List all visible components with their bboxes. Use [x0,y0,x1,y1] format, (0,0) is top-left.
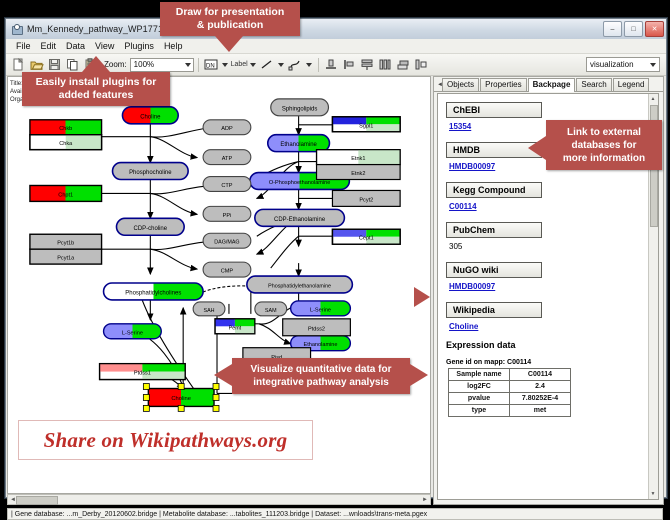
scroll-thumb[interactable] [16,496,58,505]
menu-edit[interactable]: Edit [36,40,62,53]
metabolite-node-choline-selected: Choline [143,384,219,412]
gene-node-sgpl1: Sgpl1 [332,117,400,132]
node-label: Pcyt1a [57,256,75,262]
distribute-horizontal-icon[interactable] [377,56,394,73]
datanode-dropdown-icon[interactable] [221,56,230,73]
minimize-button[interactable]: – [603,21,622,37]
save-icon[interactable] [46,56,63,73]
gene-node-chpt1: Chpt1 [30,185,102,201]
menu-view[interactable]: View [90,40,119,53]
kegg-compound-link[interactable]: C00114 [449,202,648,211]
callout-link: Link to external databases for more info… [546,120,662,170]
node-label: Phosphatidylethanolamine [268,283,331,289]
cell-value: 2.4 [510,381,571,393]
metabolite-node-phosphocholine: Phosphocholine [113,163,189,180]
table-row: pvalue 7.80252E-4 [449,393,571,405]
metabolite-node-l-serine-right: L-Serine [291,301,351,316]
gene-node-etnk2: Etnk2 [317,165,401,180]
canvas-hscrollbar[interactable]: ◄ ► [7,494,431,505]
align-left-icon[interactable] [341,56,358,73]
side-panel-tabs: ◄ Objects Properties Backpage Search Leg… [434,77,663,92]
metabolite-node-dag-mag: DAG/MAG [203,233,251,248]
menu-help[interactable]: Help [159,40,188,53]
pubchem-value: 305 [449,242,648,251]
node-label: ADP [221,126,233,132]
callout-visualize: Visualize quantitative data for integrat… [232,358,410,394]
table-row: type met [449,405,571,417]
metabolite-node-sah: SAH [193,302,225,316]
gene-node-pcyt1a: Pcyt1a [30,249,102,264]
menu-bar: File Edit Data View Plugins Help [6,39,666,54]
node-label: Pcyt1b [57,241,74,247]
node-label: Phosphocholine [129,170,172,176]
cell-key: type [449,405,510,417]
menu-file[interactable]: File [11,40,36,53]
callout-link-line3: more information [563,152,645,165]
label-tool-icon[interactable]: Label [231,56,248,73]
menu-plugins[interactable]: Plugins [119,40,159,53]
callout-link-line1: Link to external [567,126,641,139]
chevron-down-icon [650,63,656,67]
kegg-compound-header: Kegg Compound [446,182,542,198]
tab-legend[interactable]: Legend [613,78,650,91]
zoom-value: 100% [134,60,154,69]
node-label: SAM [265,308,277,314]
node-label: CDP-Ethanolamine [274,217,326,223]
open-folder-icon[interactable] [28,56,45,73]
cell-key: Sample name [449,369,510,381]
status-text: | Gene database: ...m_Derby_20120602.bri… [11,511,427,518]
tab-objects[interactable]: Objects [442,78,479,91]
line-dropdown-icon[interactable] [277,56,286,73]
cell-value: 7.80252E-4 [510,393,571,405]
nugo-wiki-link[interactable]: HMDB00097 [449,282,648,291]
table-row: log2FC 2.4 [449,381,571,393]
callout-plugins-line2: added features [59,89,134,102]
metabolite-node-atp: ATP [203,150,251,165]
node-label: Pemt [229,325,242,331]
gene-node-pcyt2: Pcyt2 [332,190,400,206]
expression-data-title: Expression data [446,340,648,350]
stack-icon[interactable] [395,56,412,73]
window-controls: – □ ✕ [603,21,664,37]
node-label: SAH [204,308,215,314]
node-label: Etnk1 [351,156,365,162]
label-dropdown-icon[interactable] [249,56,258,73]
visualization-combobox[interactable]: visualization [586,57,660,72]
node-label: Phosphatidylcholines [125,290,181,296]
shape-tool-icon[interactable] [287,56,304,73]
toolbar-separator [198,58,199,72]
node-label: DAG/MAG [214,240,239,246]
callout-visualize-arrow-right-icon [410,364,428,386]
toolbar-separator-2 [318,58,319,72]
callout-draw-line1: Draw for presentation [176,6,285,19]
node-label: Chka [59,141,73,147]
chevron-down-icon [185,63,191,67]
node-label: Ethanolamine [280,142,317,148]
callout-share: Share on Wikipathways.org [18,420,313,460]
cell-value: met [510,405,571,417]
gene-node-chka: Chka [30,135,102,150]
align-bottom-icon[interactable] [323,56,340,73]
scroll-up-icon[interactable]: ▲ [650,95,656,103]
metabolite-node-phosphatidylethanolamine: Phosphatidylethanolamine [247,276,352,293]
datanode-tool-icon[interactable]: DN [203,56,220,73]
wikipedia-link[interactable]: Choline [449,322,648,331]
node-label: L-Serine [310,307,331,313]
close-button[interactable]: ✕ [645,21,664,37]
callout-plugins-line1: Easily install plugins for [36,76,157,89]
metabolite-node-cdp-ethanolamine: CDP-Ethanolamine [255,209,345,226]
screenshot-root: Mm_Kennedy_pathway_WP1771_45176.gpml – □… [0,0,670,509]
callout-plugins-arrow-icon [82,56,110,72]
distribute-vertical-icon[interactable] [359,56,376,73]
node-label: CDP-choline [134,226,168,232]
node-label: Chkb [59,126,72,132]
node-label: CTP [221,183,232,189]
callout-visualize-arrow-left-icon [214,364,232,386]
metabolite-node-sphingolipids: Sphingolipids [271,99,329,116]
menu-data[interactable]: Data [61,40,90,53]
shape-dropdown-icon[interactable] [305,56,314,73]
new-file-icon[interactable] [10,56,27,73]
status-bar: | Gene database: ...m_Derby_20120602.bri… [7,508,663,520]
callout-link-arrow-icon [528,136,546,160]
table-row: Sample name C00114 [449,369,571,381]
visualization-value: visualization [590,60,634,69]
metabolite-node-cmp: CMP [203,262,251,277]
callout-draw-line2: & publication [197,19,264,32]
node-label: L-Serine [122,330,143,336]
node-label: Ptdss2 [308,326,325,332]
nugo-wiki-header: NuGO wiki [446,262,542,278]
label-tool-text: Label [231,61,248,68]
node-label: Ptdss1 [134,371,151,377]
line-tool-icon[interactable] [259,56,276,73]
node-label: Sgpl1 [359,123,373,129]
gene-node-ptdss2: Ptdss2 [283,319,351,336]
node-label: Choline [140,114,161,120]
callout-share-text: Share on Wikipathways.org [44,428,288,453]
node-label: O-Phosphoethanolamine [269,180,331,186]
wikipedia-header: Wikipedia [446,302,542,318]
metabolite-node-ctp: CTP [203,177,251,192]
node-label: CMP [221,269,234,275]
pubchem-header: PubChem [446,222,542,238]
callout-link-line2: databases for [571,139,636,152]
node-label: Sphingolipids [282,106,318,112]
tab-properties[interactable]: Properties [480,78,526,91]
node-label: Etnk2 [351,171,365,177]
cell-key: pvalue [449,393,510,405]
callout-draw: Draw for presentation & publication [160,2,300,36]
gene-node-pcyt1b: Pcyt1b [30,234,102,249]
gene-node-etnk1: Etnk1 [317,150,401,165]
gene-node-pemt: Pemt [215,319,255,334]
svg-text:DN: DN [206,64,215,70]
node-label: PPi [223,213,232,219]
title-bar: Mm_Kennedy_pathway_WP1771_45176.gpml – □… [6,19,666,40]
metabolite-node-ppi: PPi [203,206,251,221]
callout-draw-arrow-icon [215,36,243,52]
chebi-header: ChEBI [446,102,542,118]
node-label: Pcyt2 [359,197,373,203]
callout-visualize-line1: Visualize quantitative data for [251,363,392,376]
scroll-right-icon[interactable]: ► [421,496,429,503]
tab-backpage[interactable]: Backpage [528,78,576,92]
gene-node-cept1: Cept1 [332,229,400,244]
app-logo-icon [11,24,23,35]
callout-visualize-line2: integrative pathway analysis [253,376,389,389]
order-icon[interactable] [413,56,430,73]
metabolite-node-adp: ADP [203,120,251,135]
gene-id-line: Gene id on mapp: C00114 [446,359,648,366]
metabolite-node-phosphatidylcholines: Phosphatidylcholines [104,283,204,300]
cell-key: log2FC [449,381,510,393]
callout-plugins: Easily install plugins for added feature… [22,72,170,106]
tab-search[interactable]: Search [576,78,611,91]
cell-value: C00114 [510,369,571,381]
metabolite-node-sam: SAM [255,302,287,316]
copy-icon[interactable] [64,56,81,73]
metabolite-node-choline-top: Choline [122,107,178,124]
gene-node-ptdss1: Ptdss1 [100,364,186,380]
callout-expression-arrow-icon [414,287,430,307]
metabolite-node-l-serine-left: L-Serine [104,324,162,339]
scroll-down-icon[interactable]: ▼ [650,490,656,498]
expression-table: Sample name C00114 log2FC 2.4 pvalue 7.8… [448,368,571,417]
node-label: Chpt1 [58,192,73,198]
metabolite-node-cdp-choline: CDP-choline [116,218,184,235]
node-label: Cept1 [359,236,374,242]
gene-node-chkb: Chkb [30,120,102,135]
node-label: Choline [171,396,191,402]
node-label: ATP [222,156,233,162]
maximize-button[interactable]: □ [624,21,643,37]
zoom-combobox[interactable]: 100% [130,58,194,72]
